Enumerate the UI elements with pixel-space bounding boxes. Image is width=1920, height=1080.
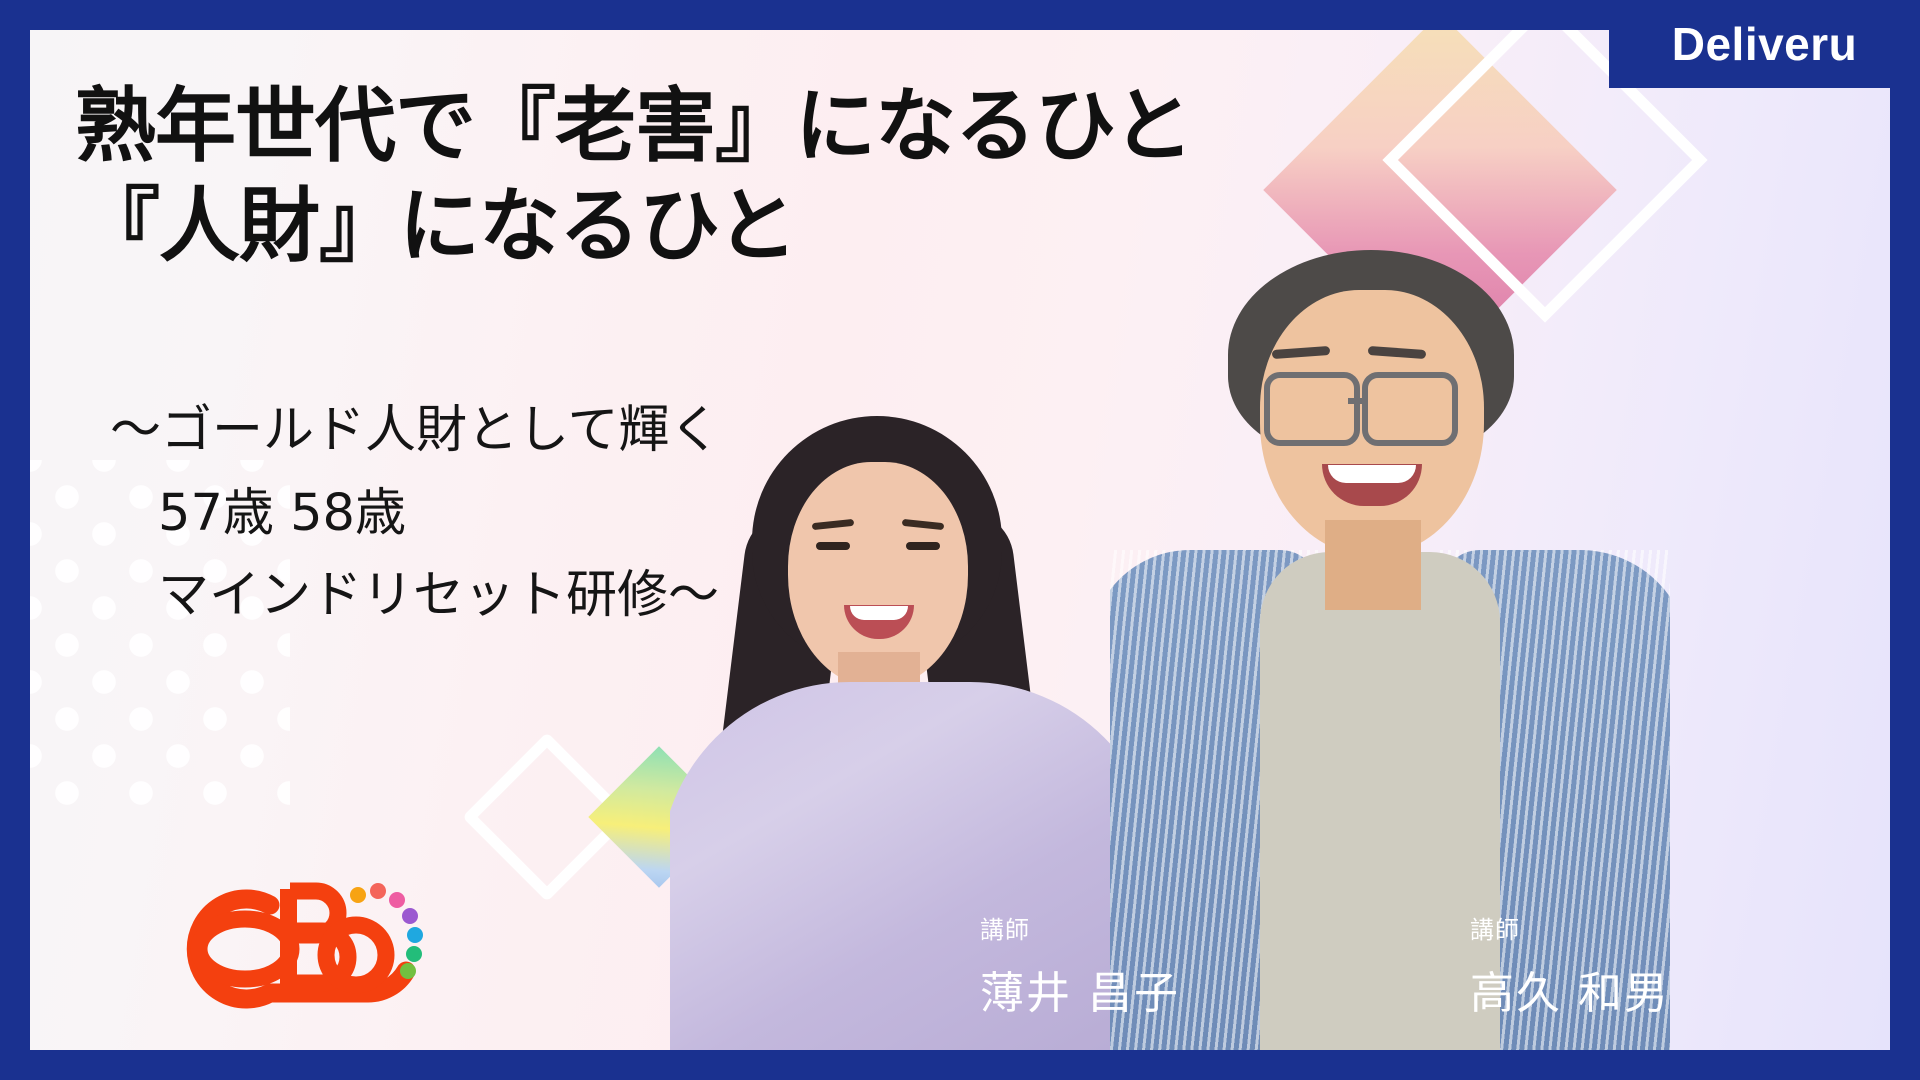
speaker-caption-left: 講師 薄井 昌子 xyxy=(980,910,1180,1021)
deliveru-brand-label: Deliveru xyxy=(1672,17,1858,71)
subtitle-line-1: 〜ゴールド人財として輝く xyxy=(110,390,720,473)
deliveru-brand-badge: Deliveru xyxy=(1609,0,1920,88)
headline-line-1: 熟年世代で『老害』になるひと xyxy=(75,78,1193,178)
speaker-caption-right: 講師 高久 和男 xyxy=(1470,910,1670,1021)
obo-logo xyxy=(170,875,440,1015)
subtitle: 〜ゴールド人財として輝く 57歳 58歳 マインドリセット研修〜 xyxy=(110,390,720,638)
speaker-role-left: 講師 xyxy=(980,910,1180,945)
subtitle-line-3: マインドリセット研修〜 xyxy=(110,555,720,638)
subtitle-line-2: 57歳 58歳 xyxy=(110,473,720,556)
speaker-role-right: 講師 xyxy=(1470,910,1670,945)
headline-line-2: 『人財』になるひと xyxy=(75,178,1193,278)
speaker-name-left: 薄井 昌子 xyxy=(980,957,1180,1021)
speaker-name-right: 高久 和男 xyxy=(1470,957,1670,1021)
headline: 熟年世代で『老害』になるひと 『人財』になるひと xyxy=(75,78,1193,277)
seminar-banner: 熟年世代で『老害』になるひと 『人財』になるひと 〜ゴールド人財として輝く 57… xyxy=(0,0,1920,1080)
banner-canvas: 熟年世代で『老害』になるひと 『人財』になるひと 〜ゴールド人財として輝く 57… xyxy=(30,30,1890,1050)
